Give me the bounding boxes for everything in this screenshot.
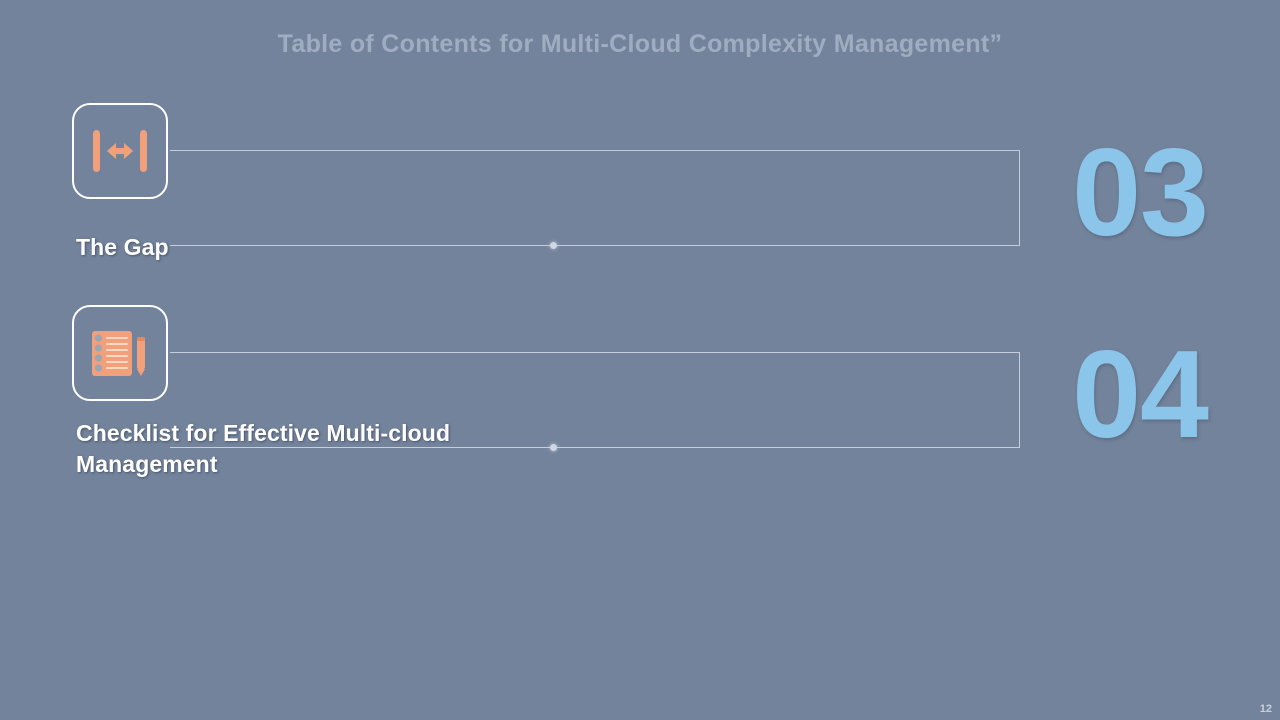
icon-box-checklist[interactable] — [72, 305, 168, 401]
connector-bracket-03 — [170, 150, 1020, 246]
checklist-notepad-pencil-icon — [90, 327, 150, 379]
slide-canvas: Table of Contents for Multi-Cloud Comple… — [0, 0, 1280, 720]
toc-entry-number-03: 03 — [1072, 131, 1208, 255]
connector-dot-03 — [550, 242, 557, 249]
page-title: Table of Contents for Multi-Cloud Comple… — [0, 30, 1280, 59]
toc-entry-number-04: 04 — [1072, 333, 1208, 457]
connector-dot-04 — [550, 444, 557, 451]
gap-width-arrow-icon — [91, 128, 149, 174]
icon-box-the-gap[interactable] — [72, 103, 168, 199]
connector-bracket-04 — [170, 352, 1020, 448]
page-number: 12 — [1260, 703, 1272, 715]
